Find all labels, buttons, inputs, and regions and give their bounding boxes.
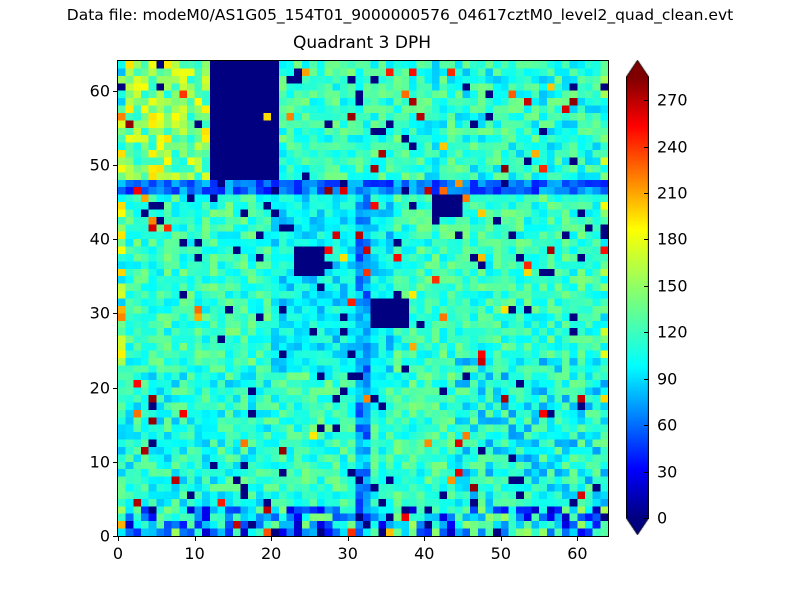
y-tick-label: 10 <box>90 452 110 471</box>
colorbar-tick-label: 270 <box>657 91 688 110</box>
colorbar-tick-label: 30 <box>657 462 677 481</box>
y-tick-mark <box>113 462 118 463</box>
x-tick-mark <box>501 536 502 541</box>
datafile-caption: Data file: modeM0/AS1G05_154T01_90000005… <box>0 6 800 24</box>
y-tick-label: 0 <box>100 527 110 546</box>
x-tick-mark <box>577 536 578 541</box>
colorbar-tick-label: 0 <box>657 509 667 528</box>
colorbar-tick-mark <box>644 193 649 194</box>
y-tick-mark <box>113 313 118 314</box>
colorbar-tick-label: 150 <box>657 276 688 295</box>
y-tick-label: 60 <box>90 81 110 100</box>
x-tick-label: 30 <box>338 544 358 563</box>
figure-canvas: Data file: modeM0/AS1G05_154T01_90000005… <box>0 0 800 600</box>
x-tick-mark <box>348 536 349 541</box>
page-title: Quadrant 3 DPH <box>117 33 607 53</box>
x-tick-label: 0 <box>113 544 123 563</box>
colorbar-tick-label: 90 <box>657 369 677 388</box>
colorbar: 0306090120150180210240270 <box>626 60 649 535</box>
colorbar-tick-mark <box>644 239 649 240</box>
x-tick-mark <box>118 536 119 541</box>
y-tick-mark <box>113 239 118 240</box>
colorbar-tick-mark <box>644 425 649 426</box>
colorbar-tick-mark <box>644 147 649 148</box>
x-tick-label: 10 <box>184 544 204 563</box>
y-tick-label: 40 <box>90 230 110 249</box>
colorbar-tick-mark <box>644 286 649 287</box>
y-tick-mark <box>113 165 118 166</box>
y-tick-label: 30 <box>90 304 110 323</box>
heatmap-axes: 0102030405060 0102030405060 <box>117 60 609 537</box>
x-tick-mark <box>271 536 272 541</box>
x-tick-mark <box>195 536 196 541</box>
x-tick-label: 60 <box>567 544 587 563</box>
colorbar-tick-label: 210 <box>657 184 688 203</box>
x-tick-label: 20 <box>261 544 281 563</box>
y-tick-label: 20 <box>90 378 110 397</box>
colorbar-tick-mark <box>644 472 649 473</box>
colorbar-gradient <box>626 60 649 535</box>
colorbar-tick-label: 120 <box>657 323 688 342</box>
colorbar-tick-mark <box>644 100 649 101</box>
x-tick-label: 40 <box>414 544 434 563</box>
heatmap-image <box>118 61 608 536</box>
colorbar-tick-label: 180 <box>657 230 688 249</box>
colorbar-tick-label: 60 <box>657 416 677 435</box>
y-tick-label: 50 <box>90 155 110 174</box>
colorbar-tick-mark <box>644 518 649 519</box>
y-tick-mark <box>113 91 118 92</box>
colorbar-tick-label: 240 <box>657 137 688 156</box>
x-tick-label: 50 <box>491 544 511 563</box>
colorbar-tick-mark <box>644 379 649 380</box>
x-tick-mark <box>424 536 425 541</box>
y-tick-mark <box>113 388 118 389</box>
colorbar-tick-mark <box>644 332 649 333</box>
